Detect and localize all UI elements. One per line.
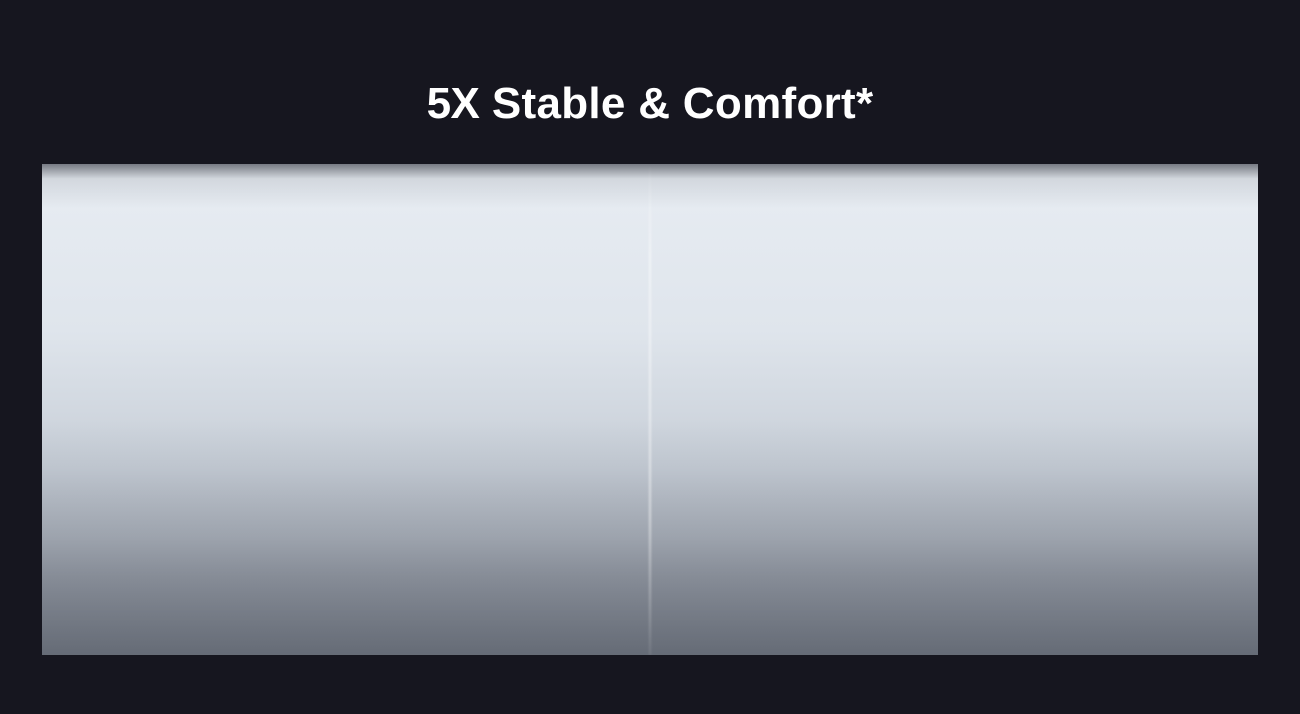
sonic-brush-head bbox=[315, 345, 377, 477]
maglev-brush-bristles bbox=[931, 346, 978, 464]
promo-banner: 5X Stable & Comfort* bbox=[0, 0, 1300, 714]
headline-text: Stable & Comfort* bbox=[492, 79, 874, 128]
maglev-brush-head bbox=[921, 337, 987, 475]
panel-maglev-motor: Maglev Motor *vs. Average Sonic Motor, T… bbox=[650, 164, 1258, 655]
panel-sonic-motor: Sonic Motor bbox=[42, 164, 650, 655]
comparison-band: Sonic Motor bbox=[42, 164, 1258, 655]
page-title: 5X Stable & Comfort* bbox=[0, 78, 1300, 130]
headline-multiplier: 5X bbox=[427, 79, 480, 128]
